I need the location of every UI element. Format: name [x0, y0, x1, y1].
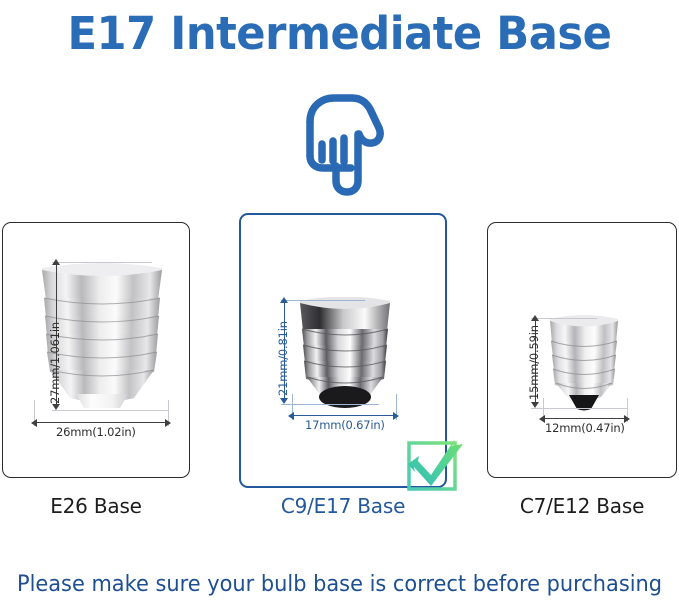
e12-top-extension: [531, 318, 597, 319]
e17-height-arrow-bottom: [280, 398, 288, 404]
e26-height-arrow-top: [52, 259, 60, 265]
e17-width-arrow-left: [288, 412, 294, 420]
e26-width-arrow-left: [31, 419, 37, 427]
caption-c7-e12-base: C7/E12 Base: [487, 492, 677, 520]
e17-screw-base-image: [292, 297, 398, 409]
e17-width-line: [293, 415, 395, 416]
e12-width-label: 12mm(0.47in): [545, 421, 625, 435]
e26-width-arrow-right: [165, 419, 171, 427]
e26-top-extension: [52, 262, 152, 263]
page-title: E17 Intermediate Base: [14, 6, 666, 62]
caption-e26-base: E26 Base: [2, 492, 190, 520]
e17-width-label: 17mm(0.67in): [305, 418, 385, 432]
e17-height-label: 21mm/0.81in: [276, 321, 290, 396]
e26-width-line: [36, 422, 167, 423]
e26-width-label: 26mm(1.02in): [56, 425, 136, 439]
caption-c9-e17-base: C9/E17 Base: [239, 492, 447, 520]
e26-bottom-extension: [52, 410, 168, 411]
e17-width-arrow-right: [393, 412, 399, 420]
e12-height-arrow-bottom: [531, 402, 539, 408]
e12-height-label: 15mm/0.59in: [527, 325, 541, 400]
e12-height-arrow-top: [531, 315, 539, 321]
e26-height-arrow-bottom: [52, 404, 60, 410]
e26-height-label: 27mm/1.061in: [48, 322, 62, 404]
hand-pointing-down-icon: [296, 88, 384, 196]
e12-bottom-extension: [531, 408, 627, 409]
e17-height-arrow-top: [280, 297, 288, 303]
e12-screw-base-image: [543, 315, 625, 411]
e17-top-extension: [281, 300, 365, 301]
e17-bottom-extension: [281, 404, 379, 405]
footer-note: Please make sure your bulb base is corre…: [17, 570, 662, 600]
e12-width-arrow-right: [624, 415, 630, 423]
e12-width-line: [544, 418, 626, 419]
green-checkmark-icon: [405, 434, 467, 496]
